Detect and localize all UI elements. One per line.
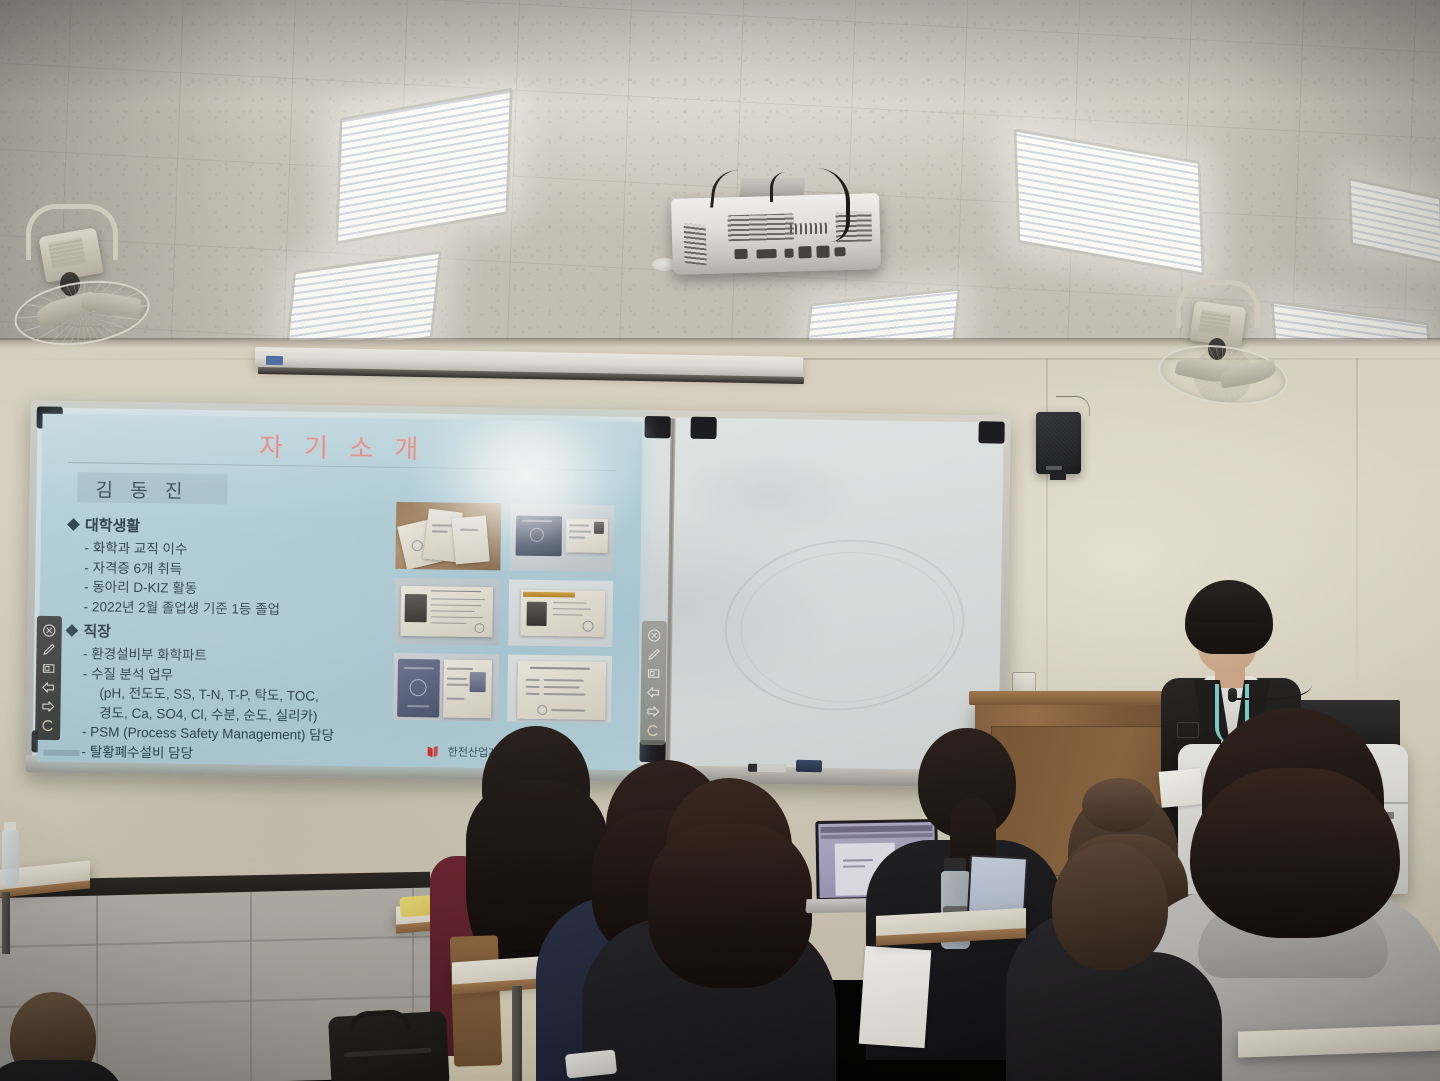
arrow-right-icon[interactable]	[40, 699, 55, 714]
slide-bullet: - 화학과 교직 이수	[84, 538, 281, 560]
speaker-wire	[1056, 396, 1090, 416]
slide-presenter-name: 김 동 진	[95, 475, 188, 503]
slide-section-work: 직장 - 환경설비부 화학파트 - 수질 분석 업무 (pH, 전도도, SS,…	[65, 620, 336, 770]
projector-cable-2	[790, 168, 850, 242]
slide-corner-tag	[44, 750, 80, 757]
desk-leg	[2, 892, 10, 954]
slide-photo-aptitude-certificate	[507, 655, 612, 723]
speaker-bracket	[1050, 470, 1066, 480]
slide-bullet: - 동아리 D-KIZ 활동	[84, 577, 281, 599]
backpack[interactable]	[328, 1011, 450, 1081]
frame-select-icon[interactable]	[646, 666, 661, 681]
slide-photo-grid	[393, 502, 614, 723]
arrow-left-icon[interactable]	[41, 680, 56, 695]
chair-1	[450, 935, 503, 1067]
eraser-block[interactable]	[796, 760, 822, 772]
slide-photo-license-card	[509, 504, 614, 572]
slide-photo-national-technical-qualification	[394, 577, 499, 645]
projector-cable-3	[770, 172, 794, 202]
student-hair-bun	[1082, 778, 1156, 832]
whiteboard-toolbar-right[interactable]	[640, 621, 667, 745]
pen-icon[interactable]	[646, 647, 661, 662]
arrow-left-icon[interactable]	[646, 685, 661, 700]
wall-speaker	[1036, 412, 1081, 474]
board-corner-tm2	[690, 417, 716, 439]
slide-photo-qualification-booklet	[393, 653, 498, 721]
clear-circle-icon[interactable]	[647, 628, 662, 643]
section-heading: 대학생활	[85, 514, 141, 536]
board-corner-tm	[644, 416, 670, 438]
slide-bullet: - 2022년 2월 졸업생 기준 1등 졸업	[84, 597, 281, 619]
frame-select-icon[interactable]	[41, 661, 56, 676]
desk-leg	[512, 986, 522, 1081]
screen-housing-label	[266, 356, 283, 365]
presenter-notes-paper	[1159, 768, 1204, 808]
slide-photo-certificates-desk	[395, 502, 500, 570]
undo-icon[interactable]	[645, 723, 660, 738]
white-sheet	[859, 946, 932, 1048]
ceiling-fan-left	[8, 198, 158, 338]
undo-icon[interactable]	[40, 718, 55, 733]
company-logo-icon	[428, 745, 442, 758]
classroom-scene: 자 기 소 개 김 동 진 대학생활 - 화학과 교직 이수 - 자격증 6개 …	[0, 0, 1440, 1081]
pen-icon[interactable]	[41, 642, 56, 657]
slide-section-university: 대학생활 - 화학과 교직 이수 - 자격증 6개 취득 - 동아리 D-KIZ…	[68, 514, 282, 619]
bullet-diamond-icon	[67, 518, 80, 531]
ceiling-fan-right	[1150, 272, 1296, 402]
student-head	[1052, 842, 1168, 970]
arrow-right-icon[interactable]	[645, 704, 660, 719]
whiteboard-toolbar-left[interactable]	[35, 616, 62, 740]
bullet-diamond-icon	[66, 624, 79, 637]
section-heading: 직장	[83, 620, 111, 641]
student-hair	[648, 824, 812, 988]
board-corner-tr	[978, 421, 1004, 443]
slide-photo-industrial-safety-id	[508, 579, 613, 647]
projected-slide: 자 기 소 개 김 동 진 대학생활 - 화학과 교직 이수 - 자격증 6개 …	[37, 414, 642, 771]
student-body	[1012, 952, 1222, 1081]
podium-microphone	[1232, 670, 1312, 700]
marker-pen[interactable]	[748, 764, 786, 773]
water-bottle-left[interactable]	[0, 822, 20, 886]
student-hair	[1190, 768, 1400, 938]
clear-circle-icon[interactable]	[42, 623, 57, 638]
